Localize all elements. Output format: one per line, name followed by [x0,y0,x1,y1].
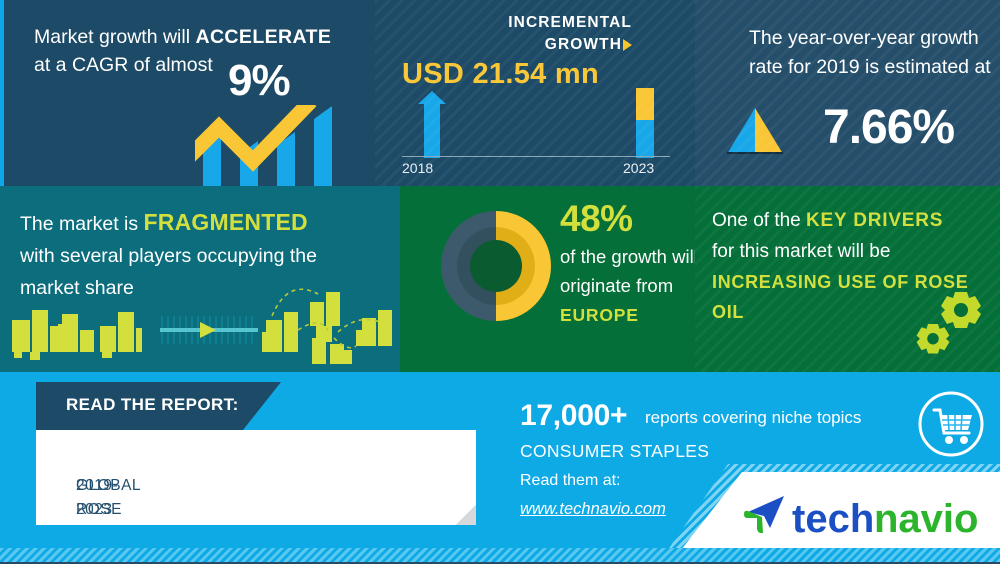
panel-europe-share: 48% of the growth will originate from EU… [400,186,695,372]
infographic-canvas: Market growth will ACCELERATE at a CAGR … [0,0,1000,564]
frag-line2: with several players occupying the [20,245,317,267]
drivers-line4: OIL [712,302,744,322]
incremental-title-line2: GROWTH [545,36,622,53]
yoy-line2: rate for 2019 is estimated at [749,56,991,78]
yoy-headline: The year-over-year growth rate for 2019 … [749,24,999,83]
brand-tech: tech [792,497,874,541]
drivers-line1-bold: KEY DRIVERS [806,210,943,231]
panel-incremental-growth: INCREMENTAL GROWTH USD 21.54 mn 2018 202… [375,0,695,186]
europe-region-label: EUROPE [560,305,639,325]
yoy-line1: The year-over-year growth [749,27,979,49]
europe-description: of the growth will originate from EUROPE [560,242,695,330]
europe-percent-value: 48% [560,198,633,240]
incremental-growth-title: INCREMENTAL GROWTH [402,12,632,57]
technavio-logo: tech navio [740,490,990,546]
caret-right-icon [623,39,632,51]
bar-chart-with-rising-arrow-icon [195,105,375,186]
city-buildings-fragmentation-icon [0,282,400,372]
cagr-line2: at a CAGR of almost [34,54,213,76]
panel-yoy-growth: The year-over-year growth rate for 2019 … [695,0,1000,186]
donut-chart-icon [440,210,552,322]
incremental-title-line1: INCREMENTAL [508,14,632,31]
brand-navio: navio [874,497,978,541]
read-them-at-label: Read them at: [520,472,621,490]
read-the-report-ribbon: READ THE REPORT: [36,382,281,430]
incremental-growth-value: USD 21.54 mn [402,58,599,91]
europe-line1: of the growth will [560,246,695,267]
incremental-label-start: 2018 [402,160,433,176]
accent-edge [0,0,4,186]
technavio-url-link[interactable]: www.technavio.com [520,500,666,519]
drivers-line1-plain: One of the [712,210,806,231]
segment-label: CONSUMER STAPLES [520,441,709,462]
yoy-percent-value: 7.66% [823,100,954,155]
ribbon-label: READ THE REPORT: [66,395,239,415]
incremental-growth-bars [402,88,672,158]
frag-line1-plain: The market is [20,213,144,235]
panel-cagr: Market growth will ACCELERATE at a CAGR … [0,0,375,186]
report-years: 2019-2023 [76,474,118,522]
report-count: 17,000+ [520,399,627,433]
cagr-line1-plain: Market growth will [34,26,195,48]
shopping-cart-icon[interactable] [917,390,985,458]
report-count-suffix: reports covering niche topics [645,408,861,428]
drivers-line3: INCREASING USE OF ROSE [712,272,968,292]
cagr-percent-value: 9% [228,56,290,106]
panel-fragmented: The market is FRAGMENTED with several pl… [0,186,400,372]
triangle-up-icon [727,108,783,154]
cagr-line1-bold: ACCELERATE [195,26,331,48]
report-title-card[interactable]: GLOBAL ROSE OIL MARKET 2019-2023 [36,430,476,525]
frag-line1-bold: FRAGMENTED [144,209,308,235]
incremental-axis-line [402,156,670,157]
gears-icon [912,292,992,366]
europe-line2: originate from [560,275,673,296]
drivers-line2: for this market will be [712,241,890,262]
incremental-label-end: 2023 [623,160,654,176]
